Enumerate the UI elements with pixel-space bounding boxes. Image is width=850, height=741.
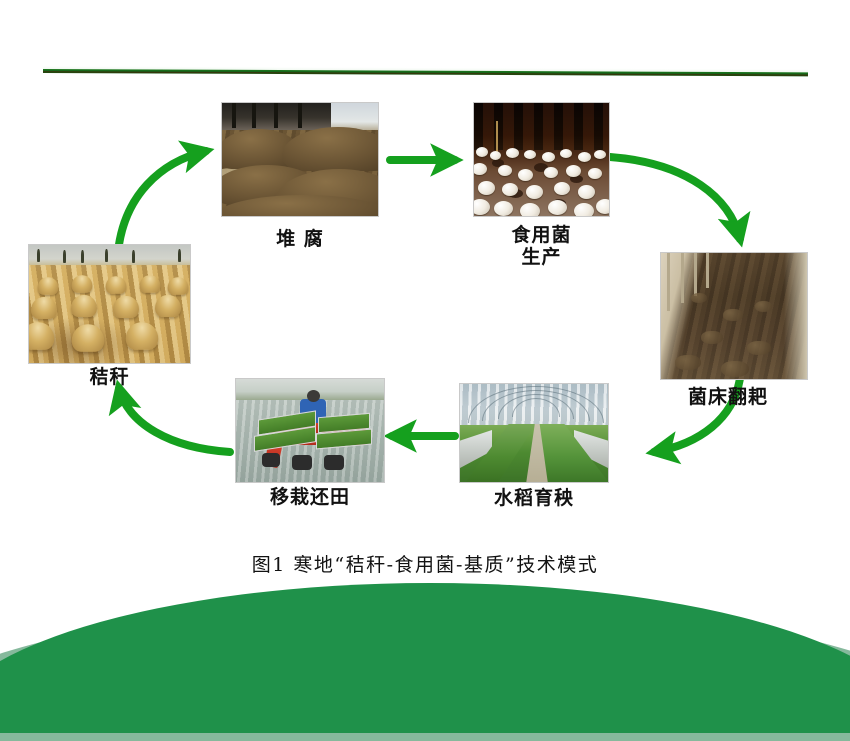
mushroom-cap — [473, 163, 487, 175]
straw-bundle — [38, 277, 59, 295]
greenhouse-rib — [694, 253, 697, 296]
straw-bundle — [31, 297, 57, 319]
arrow-transplanting-to-straw — [119, 388, 230, 452]
node-composting[interactable]: 堆 腐 — [221, 102, 379, 217]
mushroom-cap — [596, 199, 610, 214]
transplanter-wheel — [262, 453, 280, 467]
tree-icon — [63, 250, 66, 263]
mushroom-cap — [476, 147, 488, 157]
mushroom-cap — [588, 168, 602, 179]
shelter-post — [298, 103, 302, 128]
node-transplanting[interactable]: 移栽还田 — [235, 378, 385, 483]
mushroom-cap — [518, 169, 533, 181]
shelter-post — [274, 103, 278, 128]
mushroom-cap — [560, 149, 572, 158]
photo-mushroom-growing-room — [473, 102, 610, 217]
mushroom-cap — [473, 199, 490, 215]
arrow-straw-to-composting — [118, 151, 206, 252]
mushroom-cap — [594, 150, 606, 159]
greenhouse-rib — [667, 253, 670, 311]
hanging-stem — [496, 121, 498, 155]
operator-head — [307, 390, 320, 402]
photo-rice-transplanter — [235, 378, 385, 483]
slide-canvas: 秸秆 堆 腐 — [0, 0, 850, 637]
photo-tilled-soil-bed — [660, 252, 808, 380]
soil-clod — [691, 293, 707, 303]
straw-bundle — [28, 322, 54, 350]
straw-bundle — [168, 277, 189, 295]
soil-clod — [747, 341, 771, 355]
node-label-mushroom-production: 食用菌 生产 — [455, 224, 628, 269]
straw-bundle — [106, 276, 127, 294]
mushroom-cap — [574, 203, 594, 217]
straw-bundle — [71, 295, 97, 317]
mushroom-cap — [578, 185, 595, 199]
node-straw[interactable]: 秸秆 — [28, 244, 191, 364]
node-rice-seedling[interactable]: 水稻育秧 — [459, 383, 609, 483]
mushroom-cap — [502, 183, 518, 196]
mushroom-cap — [494, 201, 513, 216]
greenhouse-side-light — [784, 253, 807, 379]
shelter-post — [252, 103, 256, 128]
mushroom-cap — [548, 200, 567, 215]
soil-clod — [755, 301, 772, 312]
compost-pile — [282, 127, 379, 171]
tree-icon — [132, 250, 135, 263]
mushroom-cap — [566, 165, 581, 177]
photo-compost-piles — [221, 102, 379, 217]
soil-clod — [723, 309, 743, 321]
tree-icon — [105, 249, 108, 262]
straw-bundle — [155, 295, 181, 317]
node-label-straw: 秸秆 — [28, 366, 191, 388]
straw-bundle — [72, 275, 93, 293]
mushroom-cap — [498, 165, 512, 176]
photo-greenhouse-seedlings — [459, 383, 609, 483]
mushroom-cap — [524, 150, 536, 159]
mushroom-cap — [542, 152, 555, 162]
arrow-mushroom-to-bed — [610, 157, 740, 239]
transplanter-wheel — [324, 455, 344, 470]
photo-rice-straw-field — [28, 244, 191, 364]
dark-growing-room-wall — [474, 103, 609, 150]
soil-clod — [721, 361, 749, 377]
transplanter-wheel — [292, 455, 312, 470]
straw-bundle — [113, 296, 139, 318]
mushroom-cap — [578, 152, 591, 162]
mushroom-cap — [490, 151, 501, 160]
mushroom-cap — [506, 148, 519, 158]
node-label-composting: 堆 腐 — [215, 228, 385, 250]
tree-icon — [37, 249, 40, 262]
node-label-bed-tilling: 菌床翻耙 — [688, 386, 848, 408]
tree-icon — [81, 250, 84, 263]
greenhouse-rib — [706, 253, 709, 288]
soil-clod — [701, 331, 723, 344]
mushroom-cap — [526, 185, 543, 199]
mushroom-cap — [554, 182, 570, 195]
node-bed-tilling[interactable]: 菌床翻耙 — [660, 252, 808, 380]
soil-clod — [675, 355, 701, 370]
mushroom-cap — [544, 167, 558, 178]
sky-band — [29, 245, 190, 265]
straw-bundle — [140, 275, 161, 293]
tree-icon — [178, 249, 181, 262]
node-label-transplanting: 移栽还田 — [229, 486, 391, 508]
straw-bundle — [126, 322, 159, 350]
greenhouse-rib — [681, 253, 684, 303]
node-label-rice-seedling: 水稻育秧 — [459, 487, 609, 509]
mushroom-cap — [478, 181, 495, 195]
node-mushroom-production[interactable]: 食用菌 生产 — [473, 102, 610, 217]
straw-bundle — [72, 324, 105, 352]
shelter-post — [232, 103, 236, 128]
mushroom-cap — [520, 203, 540, 217]
figure-caption: 图1 寒地“秸秆-食用菌-基质”技术模式 — [0, 550, 850, 577]
